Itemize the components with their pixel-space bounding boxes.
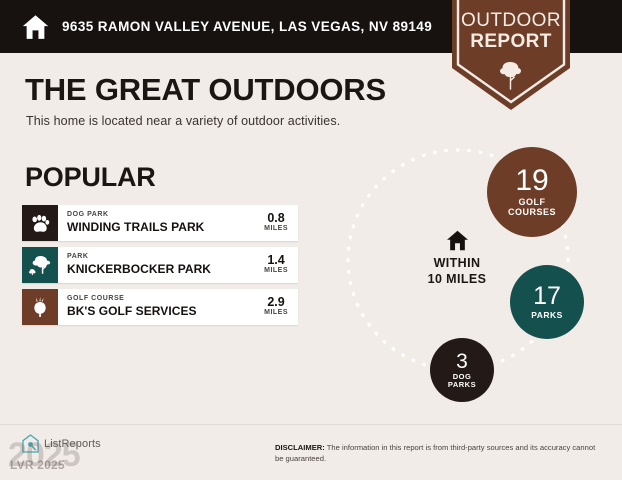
- popular-list: DOG PARK WINDING TRAILS PARK 0.8 MILES P…: [22, 205, 298, 331]
- list-item-distance: 0.8 MILES: [260, 205, 298, 241]
- list-item-text: GOLF COURSE BK'S GOLF SERVICES: [58, 289, 260, 325]
- list-item-category: DOG PARK: [67, 211, 260, 219]
- popular-heading: POPULAR: [25, 162, 156, 193]
- bubble-golf-courses: 19 GOLF COURSES: [487, 147, 577, 237]
- distance-value: 1.4: [267, 254, 284, 267]
- paw-icon: [29, 212, 51, 234]
- listreports-logo-text: ListReports: [44, 438, 101, 450]
- park-tree-icon: [29, 254, 51, 276]
- bubble-value: 17: [533, 284, 561, 309]
- page-title: THE GREAT OUTDOORS: [25, 72, 386, 108]
- distance-value: 0.8: [267, 212, 284, 225]
- watermark-small: LVR 2025: [10, 458, 65, 472]
- golf-icon: [29, 296, 51, 318]
- distance-unit: MILES: [264, 309, 288, 317]
- list-item-name: WINDING TRAILS PARK: [67, 220, 260, 235]
- bubble-value: 3: [456, 351, 468, 372]
- list-item-text: PARK KNICKERBOCKER PARK: [58, 247, 260, 283]
- bubble-label-line2: COURSES: [508, 208, 556, 218]
- list-item-icon-box: [22, 205, 58, 241]
- bubble-parks: 17 PARKS: [510, 265, 584, 339]
- radius-center-label: WITHIN 10 MILES: [393, 230, 521, 287]
- list-item[interactable]: DOG PARK WINDING TRAILS PARK 0.8 MILES: [22, 205, 298, 241]
- list-item[interactable]: GOLF COURSE BK'S GOLF SERVICES 2.9 MILES: [22, 289, 298, 325]
- home-icon: [22, 14, 49, 40]
- bubble-value: 19: [515, 166, 548, 196]
- within-line-2: 10 MILES: [393, 272, 521, 288]
- list-item-icon-box: [22, 247, 58, 283]
- home-icon: [446, 230, 469, 251]
- list-item-category: PARK: [67, 253, 260, 261]
- footer-divider: [0, 424, 622, 425]
- distance-value: 2.9: [267, 296, 284, 309]
- badge-shield-shape: [452, 0, 570, 110]
- list-item-icon-box: [22, 289, 58, 325]
- list-item-name: BK'S GOLF SERVICES: [67, 304, 260, 319]
- disclaimer: DISCLAIMER: The information in this repo…: [275, 442, 600, 464]
- bubble-label-line1: PARKS: [531, 311, 563, 320]
- outdoor-report-page: 9635 RAMON VALLEY AVENUE, LAS VEGAS, NV …: [0, 0, 622, 480]
- outdoor-report-badge: OUTDOOR REPORT: [452, 0, 570, 110]
- list-item[interactable]: PARK KNICKERBOCKER PARK 1.4 MILES: [22, 247, 298, 283]
- list-item-distance: 1.4 MILES: [260, 247, 298, 283]
- header-address-group: 9635 RAMON VALLEY AVENUE, LAS VEGAS, NV …: [0, 0, 432, 53]
- property-address: 9635 RAMON VALLEY AVENUE, LAS VEGAS, NV …: [62, 19, 432, 34]
- listreports-logo[interactable]: ListReports: [22, 434, 101, 453]
- distance-unit: MILES: [264, 267, 288, 275]
- page-subtitle: This home is located near a variety of o…: [26, 114, 340, 128]
- within-line-1: WITHIN: [393, 256, 521, 272]
- disclaimer-label: DISCLAIMER:: [275, 443, 325, 452]
- list-item-category: GOLF COURSE: [67, 295, 260, 303]
- list-item-distance: 2.9 MILES: [260, 289, 298, 325]
- distance-unit: MILES: [264, 225, 288, 233]
- bubble-label-line2: PARKS: [448, 381, 476, 389]
- list-item-name: KNICKERBOCKER PARK: [67, 262, 260, 277]
- within-radius-graphic: 19 GOLF COURSES 17 PARKS 3 DOG PARKS WIT…: [330, 130, 622, 420]
- listreports-logo-icon: [22, 434, 39, 453]
- list-item-text: DOG PARK WINDING TRAILS PARK: [58, 205, 260, 241]
- bubble-dog-parks: 3 DOG PARKS: [430, 338, 494, 402]
